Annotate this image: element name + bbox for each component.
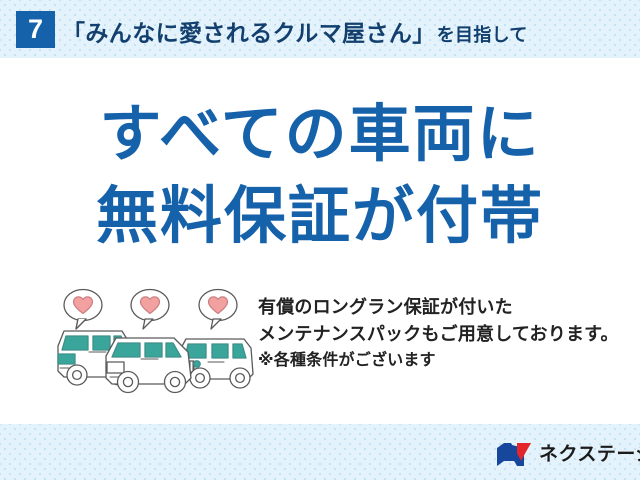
lower-content: 有償のロングラン保証が付いた メンテナンスパックもご用意しております。 ※各種条…: [0, 286, 640, 416]
section-number-badge: 7: [16, 11, 55, 48]
body-copy-line-1: 有償のロングラン保証が付いた: [258, 294, 633, 321]
header-title: 「みんなに愛されるクルマ屋さん」 を目指して: [62, 14, 528, 46]
car-suv: [181, 339, 253, 388]
heart-bubble-1: [64, 290, 102, 330]
headline-line-2: 無料保証が付帯: [0, 176, 640, 258]
header-title-suffix: を目指して: [437, 21, 528, 47]
body-copy-block: 有償のロングラン保証が付いた メンテナンスパックもご用意しております。 ※各種条…: [258, 294, 633, 374]
brand-logo: ネクステージ: [496, 440, 640, 468]
brand-wordmark: ネクステージ: [539, 442, 640, 467]
main-content-panel: すべての車両に 無料保証が付帯: [0, 58, 640, 424]
cars-with-hearts-illustration: [48, 286, 263, 404]
body-copy-note: ※各種条件がございます: [258, 348, 633, 374]
headline-line-1: すべての車両に: [0, 94, 640, 176]
header-title-main: 「みんなに愛されるクルマ屋さん」: [62, 14, 436, 48]
body-copy-line-2: メンテナンスパックもご用意しております。: [258, 321, 633, 348]
car-minivan: [106, 338, 191, 393]
promo-slide: 7 「みんなに愛されるクルマ屋さん」 を目指して すべての車両に 無料保証が付帯: [0, 0, 640, 480]
heart-bubble-3: [199, 290, 237, 330]
nexstage-n-mark-icon: [496, 442, 532, 467]
heart-bubble-2: [131, 290, 169, 330]
headline-block: すべての車両に 無料保証が付帯: [0, 94, 640, 258]
